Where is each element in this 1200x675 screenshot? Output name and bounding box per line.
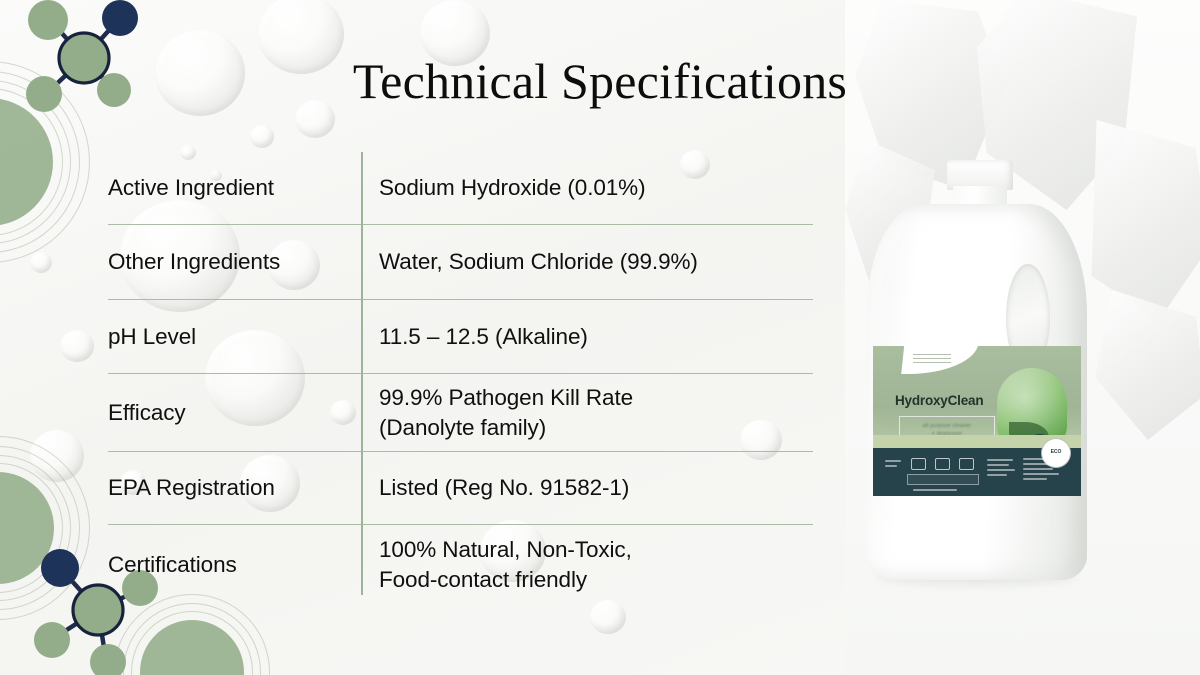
water-droplet-icon [30,252,52,273]
pictogram-icon [959,458,974,470]
table-row: Active Ingredient Sodium Hydroxide (0.01… [108,152,813,225]
product-label: HydroxyClean all purpose cleaner + degre… [873,346,1081,496]
product-bottle: HydroxyClean all purpose cleaner + degre… [867,160,1087,580]
label-microtext [987,464,1009,466]
tagline-line-1: all purpose cleaner [923,422,972,430]
spec-value: 99.9% Pathogen Kill Rate (Danolyte famil… [363,374,813,451]
label-microtext [987,469,1015,471]
pictogram-icon [911,458,926,470]
product-brand-name: HydroxyClean [895,393,983,408]
table-row: Certifications 100% Natural, Non-Toxic, … [108,525,813,605]
spec-value-line: (Danolyte family) [379,413,813,443]
technical-specifications-table: Active Ingredient Sodium Hydroxide (0.01… [108,152,813,605]
spec-value: 11.5 – 12.5 (Alkaline) [363,300,813,373]
label-dark-band: ECO [873,448,1081,496]
spec-value: Sodium Hydroxide (0.01%) [363,152,813,224]
label-microtext [1023,463,1061,465]
label-microtext [1023,473,1059,475]
label-microtext [885,460,901,462]
table-row: Other Ingredients Water, Sodium Chloride… [108,225,813,300]
table-row: EPA Registration Listed (Reg No. 91582-1… [108,452,813,525]
spec-value-line: 11.5 – 12.5 (Alkaline) [379,322,813,352]
spec-value-line: Listed (Reg No. 91582-1) [379,473,813,503]
label-microtext [987,459,1013,461]
spec-value-line: Sodium Hydroxide (0.01%) [379,173,813,203]
water-droplet-icon [250,125,274,148]
spec-value-line: 100% Natural, Non-Toxic, [379,535,813,565]
spec-value: Listed (Reg No. 91582-1) [363,452,813,524]
water-droplet-icon [60,330,94,362]
spec-label: EPA Registration [108,452,363,524]
table-column-divider [361,152,363,595]
pictogram-icon [935,458,950,470]
table-row: pH Level 11.5 – 12.5 (Alkaline) [108,300,813,374]
spec-label: pH Level [108,300,363,373]
water-droplet-icon [590,600,626,634]
label-microtext [1023,468,1053,470]
label-microtext [987,474,1007,476]
eco-seal-text: ECO [1042,449,1070,455]
spec-value-line: Water, Sodium Chloride (99.9%) [379,247,813,277]
label-microtext [885,465,897,467]
spec-value-line: Food-contact friendly [379,565,813,595]
spec-value-line: 99.9% Pathogen Kill Rate [379,383,813,413]
label-microtext [1023,478,1047,480]
spec-label: Other Ingredients [108,225,363,299]
label-microbox [907,474,979,485]
spec-value: Water, Sodium Chloride (99.9%) [363,225,813,299]
table-row: Efficacy 99.9% Pathogen Kill Rate (Danol… [108,374,813,452]
water-droplet-icon [30,430,84,482]
slide-canvas: HydroxyClean all purpose cleaner + degre… [0,0,1200,675]
concentric-rings-icon [120,600,310,675]
spec-value: 100% Natural, Non-Toxic, Food-contact fr… [363,525,813,605]
ice-backdrop [1081,120,1200,320]
ice-backdrop [1095,290,1200,440]
spec-label: Efficacy [108,374,363,451]
spec-label: Active Ingredient [108,152,363,224]
label-microtext [1023,458,1057,460]
label-microtext [913,489,957,491]
spec-label: Certifications [108,525,363,605]
label-corner-lines [913,354,951,366]
page-title: Technical Specifications [0,52,1200,110]
